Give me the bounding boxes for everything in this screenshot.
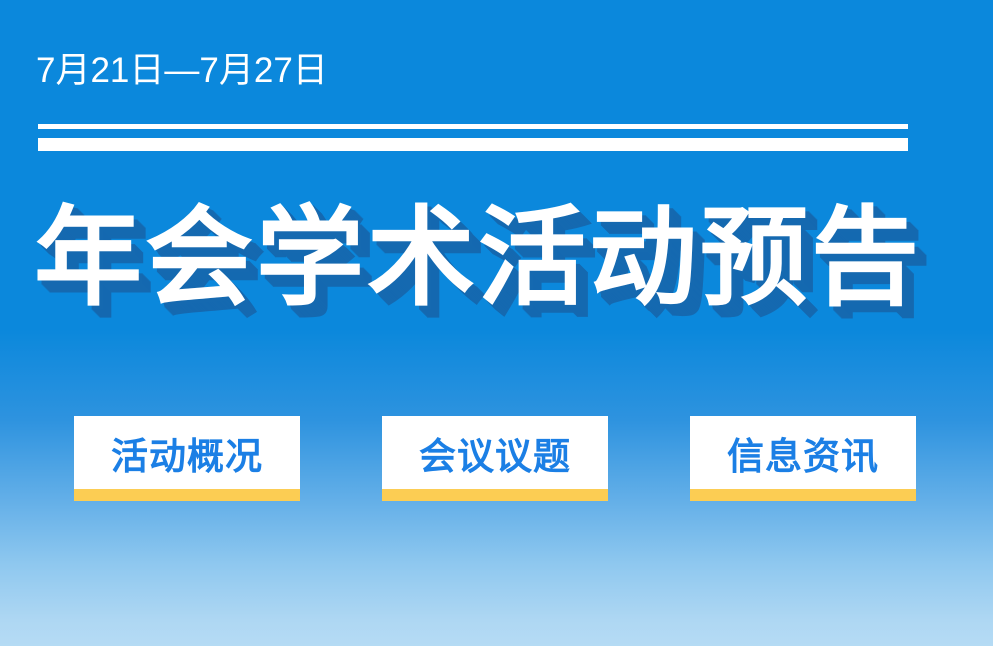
divider-rule-thick xyxy=(38,138,908,151)
divider-rule-gap xyxy=(38,129,908,138)
chip-label: 会议议题 xyxy=(382,416,608,489)
chip-information-news[interactable]: 信息资讯 xyxy=(690,416,916,501)
page-title: 年会学术活动预告 xyxy=(34,196,922,320)
chip-underline xyxy=(690,489,916,501)
chip-underline xyxy=(74,489,300,501)
chip-underline xyxy=(382,489,608,501)
chip-label: 信息资讯 xyxy=(690,416,916,489)
announcement-banner: 7月21日—7月27日 年会学术活动预告 活动概况 会议议题 信息资讯 xyxy=(0,0,993,646)
chip-label: 活动概况 xyxy=(74,416,300,489)
date-range-label: 7月21日—7月27日 xyxy=(36,48,328,94)
double-rule-divider xyxy=(38,124,908,151)
chip-conference-topics[interactable]: 会议议题 xyxy=(382,416,608,501)
chip-activity-overview[interactable]: 活动概况 xyxy=(74,416,300,501)
category-chip-row: 活动概况 会议议题 信息资讯 xyxy=(74,416,916,501)
